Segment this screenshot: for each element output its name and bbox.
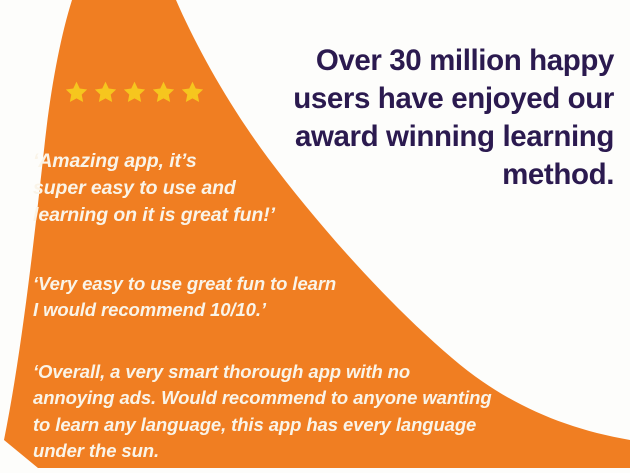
star-icon <box>151 80 176 105</box>
testimonial-poster: Over 30 million happy users have enjoyed… <box>0 0 630 473</box>
star-icon <box>93 80 118 105</box>
star-icon <box>180 80 205 105</box>
star-rating <box>64 80 205 105</box>
testimonial-quote: ‘Amazing app, it’s super easy to use and… <box>33 148 333 230</box>
testimonial-quote: ‘Overall, a very smart thorough app with… <box>33 359 578 466</box>
headline: Over 30 million happy users have enjoyed… <box>288 42 614 194</box>
testimonial-quote: ‘Very easy to use great fun to learn I w… <box>33 271 433 324</box>
star-icon <box>64 80 89 105</box>
star-icon <box>122 80 147 105</box>
